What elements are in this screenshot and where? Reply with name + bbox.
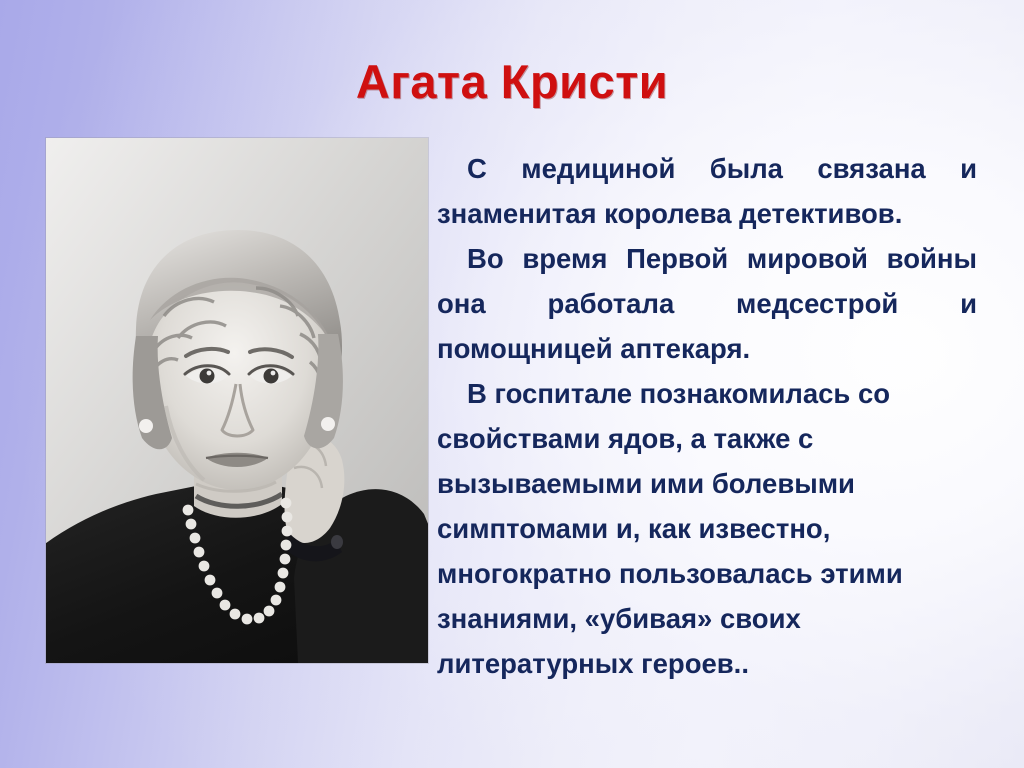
paragraph-1: С медициной была связана и знаменитая ко… (437, 146, 977, 236)
page-title: Агата Кристи (0, 57, 1024, 106)
body-text: С медициной была связана и знаменитая ко… (437, 146, 977, 686)
portrait-photo (46, 138, 428, 663)
paragraph-3: В госпитале познакомилась со свойствами … (437, 371, 977, 686)
slide-canvas: Агата Кристи (0, 0, 1024, 768)
paragraph-2: Во время Первой мировой войны она работа… (437, 236, 977, 371)
portrait-illustration (46, 138, 428, 663)
